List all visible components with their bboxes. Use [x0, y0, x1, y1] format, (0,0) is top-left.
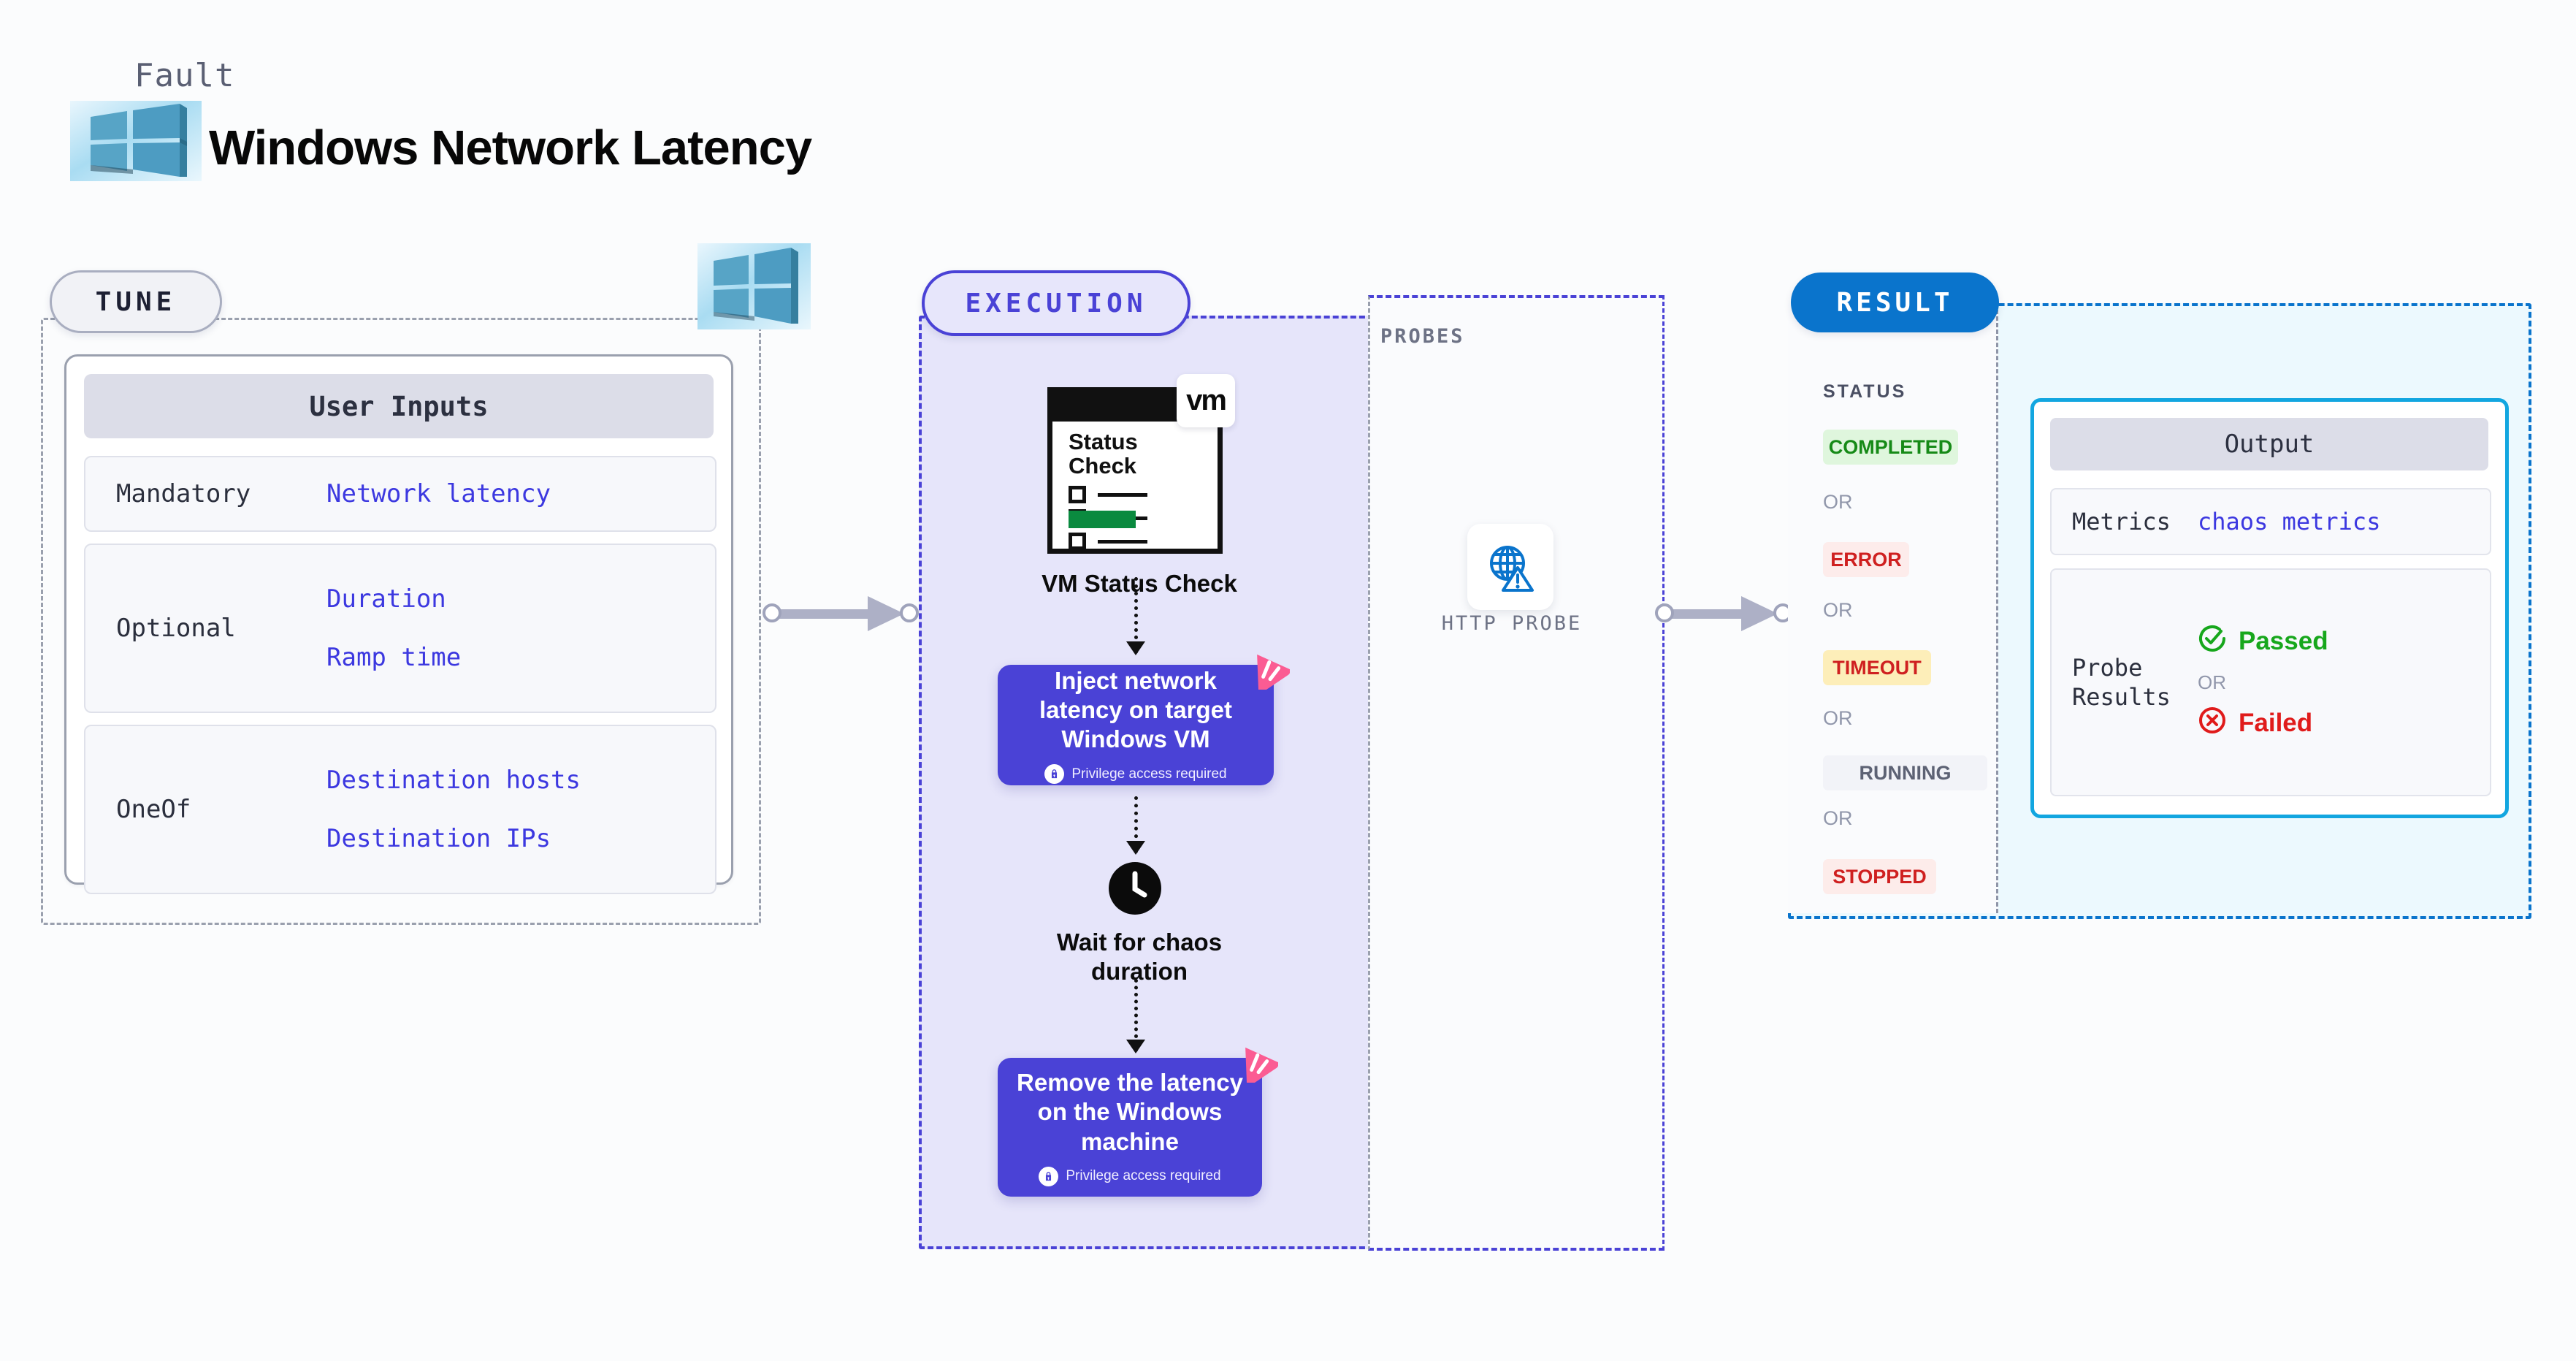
flow-arrow-2 [1134, 796, 1137, 853]
status-column-label: STATUS [1823, 381, 1906, 403]
input-value[interactable]: Destination IPs [326, 824, 715, 853]
output-row-probe-results: Probe Results Passed OR [2050, 568, 2491, 796]
status-badge-stopped: STOPPED [1823, 859, 1936, 894]
probe-result-passed: Passed [2198, 624, 2328, 660]
input-row-label: Mandatory [85, 479, 326, 508]
output-card: Output Metrics chaos metrics Probe Resul… [2030, 398, 2509, 818]
chaos-triangle-icon [1243, 647, 1290, 690]
result-section-pill: RESULT [1791, 272, 1999, 332]
input-value[interactable]: Duration [326, 584, 715, 614]
windows-logo-icon [697, 243, 811, 329]
vm-status-check-label: VM Status Check [1008, 570, 1271, 598]
clock-icon [1109, 862, 1161, 915]
output-metrics-value[interactable]: chaos metrics [2198, 508, 2380, 535]
chaos-triangle-icon [1231, 1040, 1278, 1083]
page-header: Fault Windows Network Latency [70, 44, 947, 190]
output-row-label: Metrics [2052, 507, 2198, 536]
tune-section-pill: TUNE [50, 270, 222, 333]
probe-result-failed-text: Failed [2239, 709, 2312, 738]
flow-arrow-3 [1134, 979, 1137, 1052]
lock-icon [1044, 764, 1064, 784]
probes-section-frame [1368, 295, 1665, 1251]
user-inputs-header: User Inputs [84, 374, 714, 438]
probe-result-failed: Failed [2198, 706, 2328, 742]
probes-section-label: PROBES [1380, 325, 1465, 348]
or-separator: OR [1823, 599, 1853, 622]
step-text: Inject network latency on target Windows… [998, 666, 1274, 755]
input-row-label: Optional [85, 614, 326, 643]
execution-section-pill: EXECUTION [922, 270, 1190, 336]
fault-kind-label: Fault [134, 57, 234, 94]
user-inputs-card: User Inputs Mandatory Network latency Op… [64, 354, 733, 885]
input-value[interactable]: Ramp time [326, 643, 715, 672]
windows-logo-icon [70, 101, 202, 181]
privilege-note: Privilege access required [1039, 1167, 1220, 1186]
or-separator: OR [1823, 807, 1853, 830]
check-circle-icon [2198, 624, 2227, 660]
page-title: Windows Network Latency [209, 120, 811, 176]
status-badge-timeout: TIMEOUT [1823, 650, 1931, 685]
vm-badge-icon: vm [1177, 374, 1235, 427]
probe-result-passed-text: Passed [2239, 627, 2328, 656]
status-badge-running: RUNNING [1823, 755, 1987, 790]
privilege-note-text: Privilege access required [1071, 766, 1226, 782]
privilege-note-text: Privilege access required [1066, 1168, 1220, 1184]
or-separator: OR [1823, 491, 1853, 514]
flow-arrow-1 [1134, 577, 1137, 654]
status-badge-error: ERROR [1823, 542, 1909, 577]
privilege-note: Privilege access required [1044, 764, 1226, 784]
output-row-label: Probe Results [2052, 653, 2198, 712]
input-row-label: OneOf [85, 795, 326, 824]
step-text: Remove the latency on the Windows machin… [998, 1068, 1262, 1156]
http-probe-label: HTTP PROBE [1410, 612, 1614, 635]
lock-icon [1039, 1167, 1058, 1186]
connector-execution-to-result [1652, 599, 1795, 628]
input-row-optional: Optional Duration Ramp time [84, 544, 716, 713]
input-value[interactable]: Network latency [326, 479, 715, 508]
status-badge-completed: COMPLETED [1823, 430, 1958, 465]
input-row-oneof: OneOf Destination hosts Destination IPs [84, 725, 716, 894]
execution-step-inject-latency[interactable]: Inject network latency on target Windows… [998, 665, 1274, 785]
x-circle-icon [2198, 706, 2227, 742]
status-check-title-line2: Check [1069, 454, 1138, 479]
status-check-title-line1: Status [1069, 430, 1138, 454]
output-header: Output [2050, 418, 2488, 470]
globe-warning-icon[interactable] [1467, 524, 1553, 610]
input-row-mandatory: Mandatory Network latency [84, 456, 716, 532]
execution-step-remove-latency[interactable]: Remove the latency on the Windows machin… [998, 1058, 1262, 1197]
vm-status-check-icon: Status Check vm [1047, 387, 1230, 559]
output-row-metrics: Metrics chaos metrics [2050, 488, 2491, 555]
wait-for-chaos-duration-label: Wait for chaos duration [1008, 928, 1271, 987]
or-separator: OR [2198, 671, 2328, 694]
input-value[interactable]: Destination hosts [326, 766, 715, 795]
or-separator: OR [1823, 707, 1853, 730]
connector-tune-to-execution [760, 599, 923, 628]
